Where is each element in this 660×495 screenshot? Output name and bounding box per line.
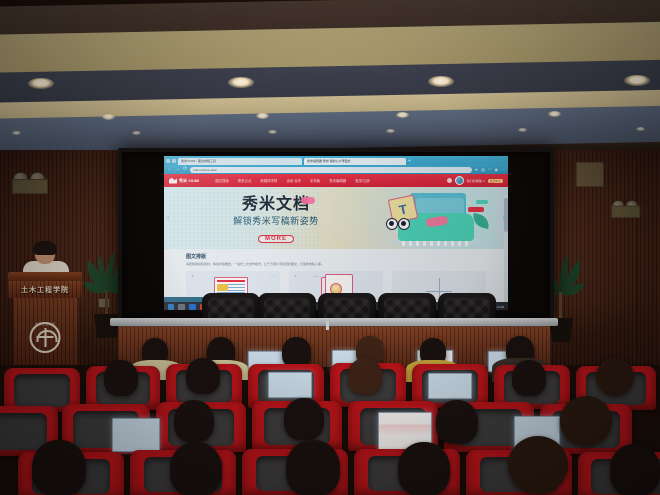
sidebar-tool-icon[interactable] [497,200,503,206]
back-icon[interactable]: ← [167,165,172,174]
wall-speaker-panel [576,162,604,187]
audience-head [596,358,634,396]
downlight [228,77,254,88]
downlight [28,78,54,89]
microphone-icon [326,321,329,330]
audience-head [610,444,660,495]
illustration-tag-red [468,207,484,212]
audience-head [286,440,340,495]
presenter-hair [33,241,57,255]
site-navbar: 秀米 XIUMI 图文排版 秀米云点 新媒体学院 活动·合作 手机版 秀米编辑器… [164,174,508,187]
carousel-prev-icon[interactable]: ‹ [167,215,169,222]
laptop-screen [112,418,160,452]
nav-item-4[interactable]: 手机版 [310,178,320,183]
tab-title: 秀米XIUMI - 图文排版工具 [181,158,216,165]
sidebar-tool-icon[interactable] [497,209,503,215]
audience-head [284,398,324,440]
browser-tab-bar: 秀米XIUMI - 图文排版工具 秀米编辑器 秀米 我的公众号图文 + [164,156,508,165]
explorer-icon[interactable] [178,304,185,310]
illustration-eye [398,218,410,230]
downlight [102,114,115,120]
scrollbar-thumb[interactable] [504,198,508,232]
emergency-lamp-icon [12,172,46,194]
hero-banner: 秀米文档 解锁秀米写稿新姿势 MORE T [164,187,508,249]
downlight [396,112,409,118]
start-icon[interactable] [168,304,174,310]
new-tab-icon[interactable]: + [408,158,411,165]
downlight [624,75,650,86]
audience-head [348,358,382,394]
hero-text-block: 秀米文档 解锁秀米写稿新姿势 MORE [210,196,342,245]
tab-title: 秀米编辑器 秀米 我的公众号图文 [307,158,351,165]
podium-body: 南 京 工 业 大 学 [13,298,77,365]
downlight [12,131,21,135]
audience-head [186,358,220,394]
nav-item-6[interactable]: 登录/注册 [355,178,370,183]
laptop-screen [428,373,472,399]
star-icon[interactable]: ★ [475,165,479,174]
favorites-icon[interactable]: ♡ [488,165,492,174]
laptop-screen [268,372,312,398]
edge-icon[interactable] [189,304,196,310]
audience-head [398,442,450,495]
site-nav-right: 我们的课程·U 会员中心 [447,176,503,185]
audience-head [170,442,222,495]
dots-icon[interactable]: ··· [270,274,275,280]
podium-sign-text: 土木工程学院 [21,285,69,295]
url-text: https://xiumi.us/#/ [193,167,216,173]
audience-head [560,396,612,446]
university-logo-icon: 南 京 工 业 大 学 [30,322,61,353]
lecture-hall-photo: 秀米XIUMI - 图文排版工具 秀米编辑器 秀米 我的公众号图文 + ← → … [0,0,660,495]
site-logo-text: 秀米 XIUMI [179,178,199,184]
sidebar-tool-icon[interactable] [497,236,503,242]
downlight [548,111,561,117]
podium-top [8,272,82,281]
browser-toolbar-icons: ★ ▤ ♡ ◉ ⋯ [475,165,505,174]
window-control-icon[interactable] [172,159,176,163]
downlight [636,127,645,131]
membership-badge[interactable]: 会员中心 [488,179,503,183]
hero-subtitle: 解锁秀米写稿新姿势 [210,215,342,227]
browser-chrome: 秀米XIUMI - 图文排版工具 秀米编辑器 秀米 我的公众号图文 + ← → … [164,156,508,174]
site-logo[interactable]: 秀米 XIUMI [169,178,199,184]
downlight [132,131,141,135]
site-nav-items: 图文排版 秀米云点 新媒体学院 活动·合作 手机版 秀米编辑器 登录/注册 [215,178,446,183]
collections-icon[interactable]: ▤ [481,165,485,174]
more-icon[interactable]: ⋯ [501,165,505,174]
side-toolbar [497,200,503,242]
audience-head [436,400,478,444]
nav-item-2[interactable]: 新媒体学院 [260,178,277,183]
page-scrollbar[interactable] [504,196,508,310]
section-paragraph: 海量精致模板素材，精选内容推送，一站式二次创作模式，让千万用户手机轻松图文，打造… [186,262,486,267]
nav-item-1[interactable]: 秀米云点 [238,178,252,183]
projected-browser-screen: 秀米XIUMI - 图文排版工具 秀米编辑器 秀米 我的公众号图文 + ← → … [164,156,508,310]
podium-sign: 土木工程学院 [8,281,82,298]
sidebar-tool-icon[interactable] [497,227,503,233]
illustration-mascot-teeth [402,241,468,246]
hero-title: 秀米文档 [242,196,310,214]
audience-head [104,360,138,396]
user-name: 我们的课程·U [467,179,485,183]
browser-address-bar: ← → ⟳ https://xiumi.us/#/ ★ ▤ ♡ ◉ ⋯ [164,165,508,174]
illustration-tag-teal [476,200,488,204]
downlight [256,113,269,119]
xiumi-logo-icon [169,178,177,184]
nav-item-3[interactable]: 活动·合作 [286,178,301,183]
downlight [518,128,527,132]
plus-icon[interactable]: + [191,274,194,280]
podium: 土木工程学院 南 京 工 业 大 学 [8,272,82,365]
hero-illustration: T [376,191,492,247]
avatar[interactable] [455,176,464,185]
taskbar-clock: 14:28 [496,305,504,309]
section-heading: 图文排版 [186,253,486,260]
illustration-eye [386,218,398,230]
nav-item-5[interactable]: 秀米编辑器 [329,178,346,183]
dash-icon: — [313,274,318,280]
nav-item-0[interactable]: 图文排版 [215,178,229,183]
downlight [268,130,277,134]
plus-icon[interactable]: + [294,274,297,280]
browser-tab[interactable]: 秀米XIUMI - 图文排版工具 [178,158,302,165]
sidebar-tool-icon[interactable] [497,218,503,224]
table-top [110,318,558,326]
audience-head [512,360,546,396]
audience-head [174,400,214,442]
downlight [386,129,395,133]
profile-icon[interactable]: ◉ [495,165,499,174]
forward-icon[interactable]: → [175,165,180,174]
reload-icon[interactable]: ⟳ [183,165,187,174]
audience-head [508,436,568,494]
emergency-lamp-icon [611,200,638,218]
url-input[interactable]: https://xiumi.us/#/ [190,167,471,173]
more-button[interactable]: MORE [258,235,294,243]
notification-bell-icon[interactable] [447,178,452,183]
downlight [428,76,454,87]
browser-tab-active[interactable]: 秀米编辑器 秀米 我的公众号图文 [304,158,406,165]
university-logo-text: 南 京 工 业 大 学 [35,322,54,326]
audience-head [32,440,86,495]
xiumi-webpage: 秀米 XIUMI 图文排版 秀米云点 新媒体学院 活动·合作 手机版 秀米编辑器… [164,174,508,310]
window-control-icon[interactable] [166,159,170,163]
